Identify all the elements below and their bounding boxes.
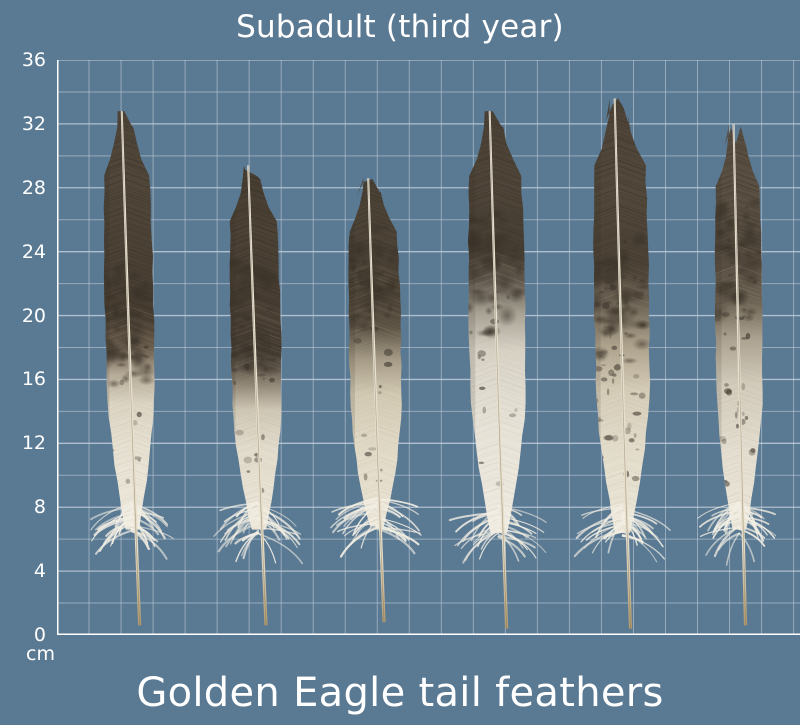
feather-specimen (450, 111, 546, 629)
feather-specimen (575, 98, 670, 628)
y-axis-unit-label: cm (26, 645, 55, 664)
feather-specimen (331, 178, 421, 622)
y-tick-label: 8 (0, 498, 46, 517)
figure-caption: Golden Eagle tail feathers (0, 669, 800, 717)
chart-title: Subadult (third year) (0, 8, 800, 46)
y-tick-label: 0 (0, 626, 46, 645)
y-tick-label: 36 (0, 51, 46, 70)
feather-specimens (85, 98, 776, 628)
y-tick-label: 24 (0, 243, 46, 262)
plot-area (57, 60, 800, 635)
y-tick-label: 12 (0, 434, 46, 453)
y-tick-label: 20 (0, 307, 46, 326)
feather-specimen (214, 165, 302, 625)
feather-plot-svg (57, 60, 800, 635)
grid-lines (57, 60, 800, 635)
y-tick-label: 16 (0, 370, 46, 389)
feather-down-barbs (698, 502, 776, 565)
feather-down-barbs (214, 502, 302, 563)
feather-specimen (698, 124, 776, 626)
figure-root: Subadult (third year) cm 363228242016128… (0, 0, 800, 725)
y-tick-label: 28 (0, 179, 46, 198)
feather-down-barbs (91, 502, 173, 559)
feather-down-barbs (575, 504, 670, 562)
y-tick-label: 32 (0, 115, 46, 134)
y-tick-label: 4 (0, 562, 46, 581)
